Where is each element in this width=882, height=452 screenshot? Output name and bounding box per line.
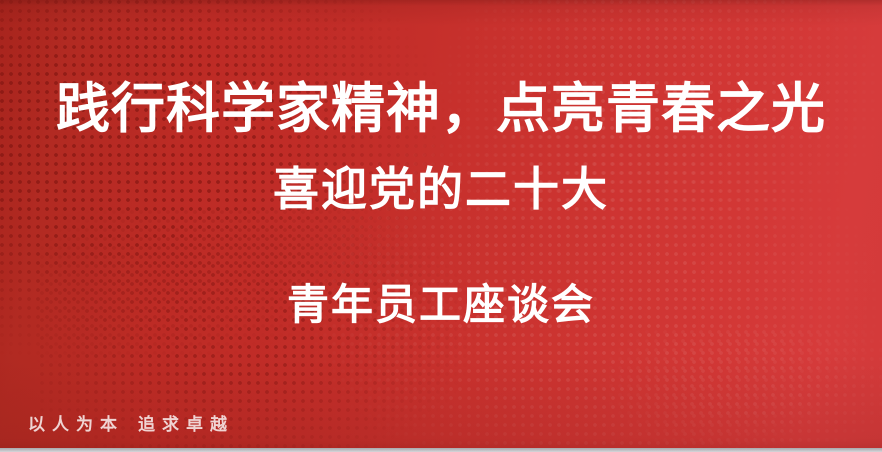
background-vertical-shading xyxy=(0,0,882,452)
presentation-slide: 践行科学家精神，点亮青春之光 喜迎党的二十大 青年员工座谈会 以人为本追求卓越 xyxy=(0,0,882,452)
headline-block: 践行科学家精神，点亮青春之光 喜迎党的二十大 xyxy=(0,82,882,212)
event-subtitle: 青年员工座谈会 xyxy=(0,284,882,326)
bottom-strip xyxy=(0,448,882,452)
corporate-slogan: 以人为本追求卓越 xyxy=(28,410,234,435)
slogan-phrase-1: 以人为本 xyxy=(28,415,124,435)
slogan-phrase-2: 追求卓越 xyxy=(138,415,234,435)
headline-line-2: 喜迎党的二十大 xyxy=(0,166,882,212)
headline-line-1: 践行科学家精神，点亮青春之光 xyxy=(0,82,882,136)
